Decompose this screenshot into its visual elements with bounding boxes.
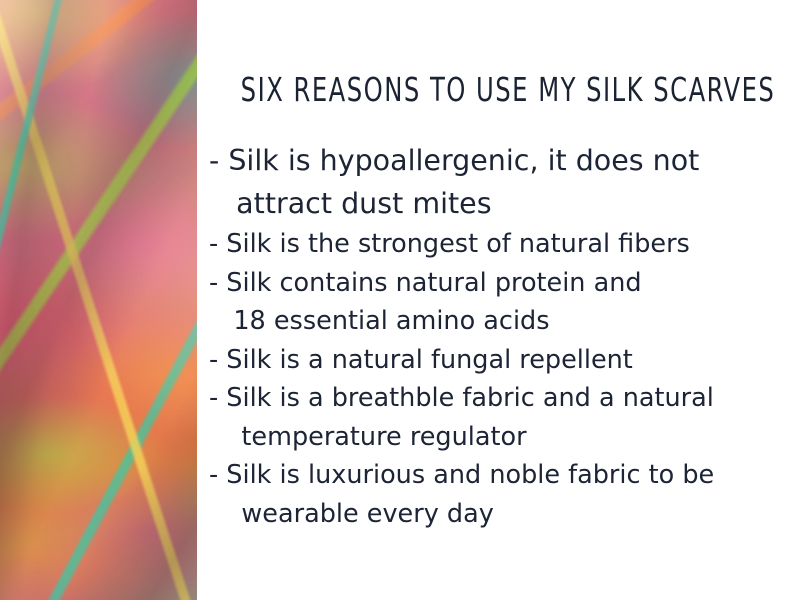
list-item: - Silk is a breathble fabric and a natur… bbox=[209, 379, 789, 456]
list-item: - Silk contains natural protein and 18 e… bbox=[209, 264, 789, 341]
list-item-line: - Silk is a natural fungal repellent bbox=[209, 341, 789, 380]
list-item-line: wearable every day bbox=[209, 495, 789, 534]
list-item: - Silk is a natural fungal repellent bbox=[209, 341, 789, 380]
silk-scarf-photo bbox=[0, 0, 197, 600]
list-item-line: - Silk is luxurious and noble fabric to … bbox=[209, 456, 789, 495]
page-title: SIX REASONS TO USE MY SILK SCARVES bbox=[236, 74, 781, 106]
list-item-line: - Silk is the strongest of natural fiber… bbox=[209, 225, 789, 264]
list-item-line: - Silk is hypoallergenic, it does not bbox=[209, 139, 789, 182]
list-item-line: temperature regulator bbox=[209, 418, 789, 457]
content-area: SIX REASONS TO USE MY SILK SCARVES - Sil… bbox=[197, 0, 800, 600]
list-item-line: - Silk contains natural protein and bbox=[209, 264, 789, 303]
slide-canvas: SIX REASONS TO USE MY SILK SCARVES - Sil… bbox=[0, 0, 800, 600]
list-item: - Silk is hypoallergenic, it does not at… bbox=[209, 139, 789, 225]
list-item-line: 18 essential amino acids bbox=[209, 302, 789, 341]
list-item: - Silk is luxurious and noble fabric to … bbox=[209, 456, 789, 533]
list-item: - Silk is the strongest of natural fiber… bbox=[209, 225, 789, 264]
list-item-line: attract dust mites bbox=[209, 182, 789, 225]
reasons-list: - Silk is hypoallergenic, it does not at… bbox=[209, 139, 789, 533]
list-item-line: - Silk is a breathble fabric and a natur… bbox=[209, 379, 789, 418]
silk-haze-layer bbox=[0, 0, 197, 600]
